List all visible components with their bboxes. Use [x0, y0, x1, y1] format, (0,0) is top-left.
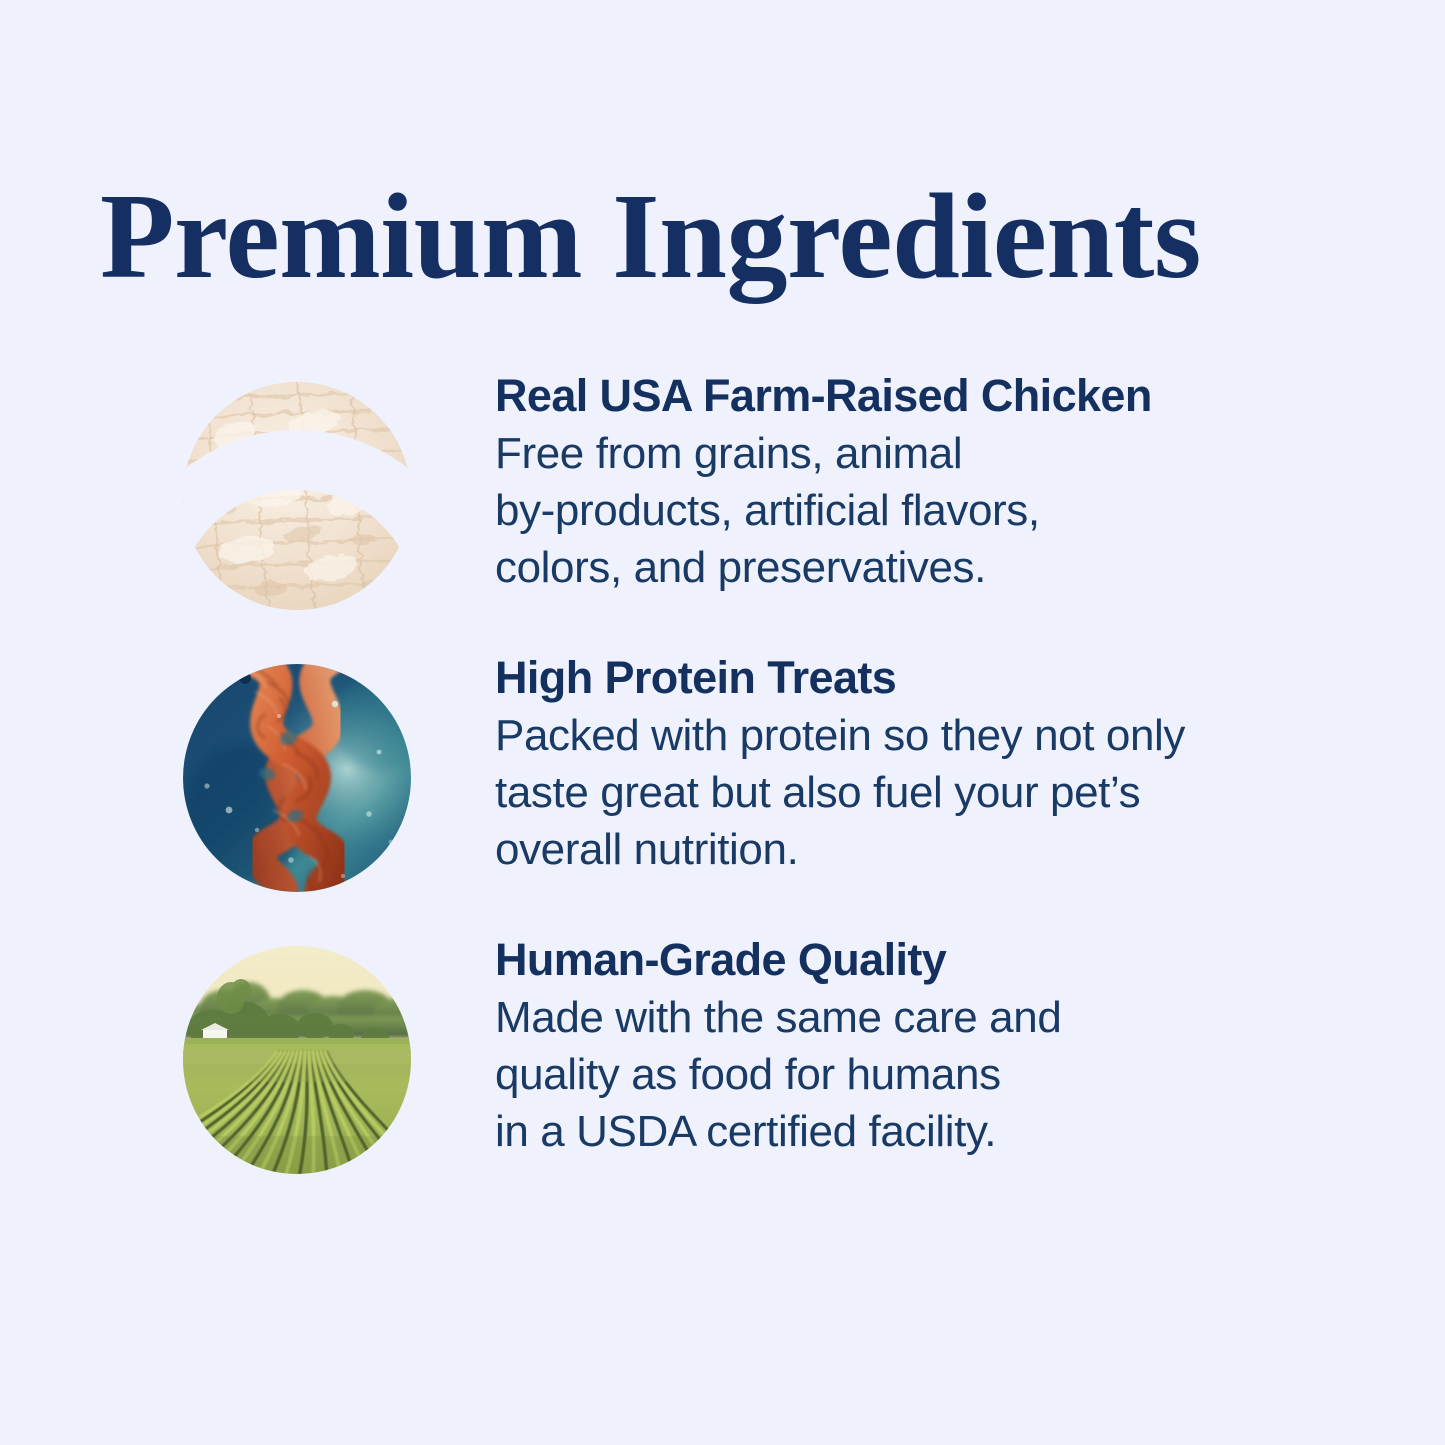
feature-body-line: Free from grains, animal — [495, 425, 1295, 482]
feature-heading: Real USA Farm-Raised Chicken — [495, 370, 1295, 422]
feature-body-line: Packed with protein so they not only — [495, 707, 1295, 764]
feature-heading: High Protein Treats — [495, 652, 1295, 704]
protein-helix-thumbnail — [183, 664, 411, 892]
feature-item-protein: High Protein Treats Packed with protein … — [0, 652, 1445, 934]
feature-heading: Human-Grade Quality — [495, 934, 1295, 986]
feature-body-line: colors, and preservatives. — [495, 539, 1295, 596]
premium-ingredients-panel: Premium Ingredients — [0, 0, 1445, 1445]
farm-field-thumbnail — [183, 946, 411, 1174]
feature-body-line: in a USDA certified facility. — [495, 1103, 1295, 1160]
feature-body: Made with the same care and quality as f… — [495, 989, 1295, 1160]
feature-body-line: taste great but also fuel your pet’s — [495, 764, 1295, 821]
feature-body-line: overall nutrition. — [495, 821, 1295, 878]
feature-item-farm: Human-Grade Quality Made with the same c… — [0, 934, 1445, 1216]
page-title: Premium Ingredients — [100, 176, 1350, 298]
feature-list: Real USA Farm-Raised Chicken Free from g… — [0, 370, 1445, 1216]
feature-body: Free from grains, animal by-products, ar… — [495, 425, 1295, 596]
feature-body-line: Made with the same care and — [495, 989, 1295, 1046]
feature-body-line: quality as food for humans — [495, 1046, 1295, 1103]
feature-text-protein: High Protein Treats Packed with protein … — [495, 652, 1295, 878]
chicken-meat-thumbnail — [183, 382, 411, 610]
feature-text-farm: Human-Grade Quality Made with the same c… — [495, 934, 1295, 1160]
feature-item-chicken: Real USA Farm-Raised Chicken Free from g… — [0, 370, 1445, 652]
feature-body-line: by-products, artificial flavors, — [495, 482, 1295, 539]
feature-body: Packed with protein so they not only tas… — [495, 707, 1295, 878]
feature-text-chicken: Real USA Farm-Raised Chicken Free from g… — [495, 370, 1295, 596]
